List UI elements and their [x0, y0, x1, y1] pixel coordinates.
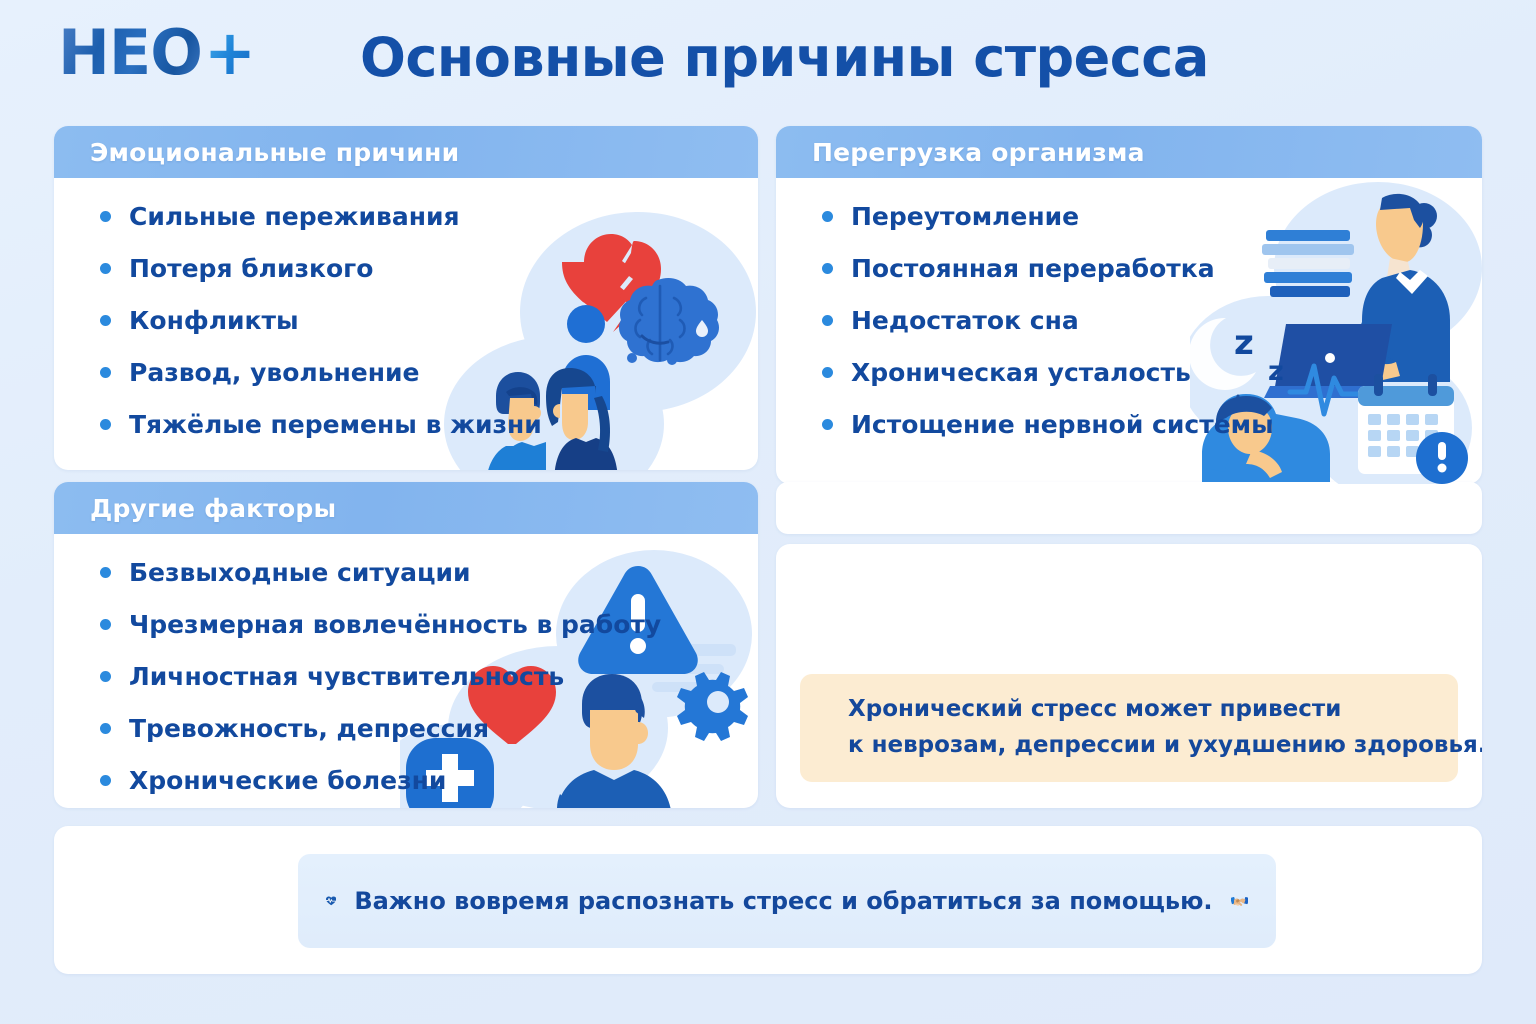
list-item: Развод, увольнение — [100, 358, 758, 387]
bullet-dot-icon — [100, 263, 111, 274]
bullet-dot-icon — [100, 419, 111, 430]
bullet-dot-icon — [100, 723, 111, 734]
list-item-label: Безвыходные ситуации — [129, 558, 471, 587]
card-overload-header: Перегрузка организма — [776, 126, 1482, 178]
list-item-label: Конфликты — [129, 306, 299, 335]
warning-message: Хронический стресс может привести к невр… — [848, 692, 1482, 763]
footer-bar: Важно вовремя распознать стресс и обрати… — [298, 854, 1276, 948]
list-item-label: Хронические болезни — [129, 766, 446, 795]
list-item-label: Хроническая усталость — [851, 358, 1191, 387]
brand-logo[interactable]: НЕО+ — [58, 22, 255, 84]
card-other-body: Безвыходные ситуации Чрезмерная вовлечён… — [54, 534, 758, 808]
brand-logo-text: НЕО — [58, 22, 202, 84]
list-item: Хронические болезни — [100, 766, 758, 795]
list-item: Истощение нервной системы — [822, 410, 1482, 439]
brand-logo-plus-icon: + — [204, 22, 255, 84]
list-item-label: Тяжёлые перемены в жизни — [129, 410, 542, 439]
warning-line-2: к неврозам, депрессии и ухудшению здоров… — [848, 728, 1482, 764]
list-item: Потеря близкого — [100, 254, 758, 283]
bullet-dot-icon — [100, 367, 111, 378]
bullet-dot-icon — [822, 419, 833, 430]
page-title: Основные причины стресса — [360, 26, 1209, 89]
other-factors-list: Безвыходные ситуации Чрезмерная вовлечён… — [100, 558, 758, 795]
list-item-label: Постоянная переработка — [851, 254, 1215, 283]
bullet-dot-icon — [100, 619, 111, 630]
bullet-dot-icon — [822, 315, 833, 326]
bullet-dot-icon — [822, 211, 833, 222]
list-item: Конфликты — [100, 306, 758, 335]
list-item: Тревожность, депрессия — [100, 714, 758, 743]
bullet-dot-icon — [100, 211, 111, 222]
bullet-dot-icon — [100, 315, 111, 326]
list-item-label: Чрезмерная вовлечённость в работу — [129, 610, 661, 639]
bullet-dot-icon — [822, 263, 833, 274]
warning-line-1: Хронический стресс может привести — [848, 692, 1482, 728]
card-emotional-body: Сильные переживания Потеря близкого Конф… — [54, 178, 758, 470]
card-other-factors: Другие факторы Безвыходные ситуации Чрез… — [54, 482, 758, 808]
card-chronic-stress-warning: Хронический стресс может привести к невр… — [776, 544, 1482, 808]
bullet-dot-icon — [100, 775, 111, 786]
list-item-label: Потеря близкого — [129, 254, 373, 283]
bullet-dot-icon — [100, 671, 111, 682]
bullet-dot-icon — [822, 367, 833, 378]
list-item: Тяжёлые перемены в жизни — [100, 410, 758, 439]
list-item-label: Развод, увольнение — [129, 358, 420, 387]
list-item: Недостаток сна — [822, 306, 1482, 335]
card-overload-title: Перегрузка организма — [812, 138, 1145, 167]
list-item: Чрезмерная вовлечённость в работу — [100, 610, 758, 639]
list-item: Безвыходные ситуации — [100, 558, 758, 587]
card-footer-message: Важно вовремя распознать стресс и обрати… — [54, 826, 1482, 974]
list-item: Постоянная переработка — [822, 254, 1482, 283]
list-item: Хроническая усталость — [822, 358, 1482, 387]
card-spacer-panel — [776, 482, 1482, 534]
list-item-label: Личностная чувствительность — [129, 662, 564, 691]
list-item: Переутомление — [822, 202, 1482, 231]
card-emotional-title: Эмоциональные причини — [90, 138, 459, 167]
card-other-title: Другие факторы — [90, 494, 336, 523]
list-item-label: Тревожность, депрессия — [129, 714, 489, 743]
card-emotional-causes: Эмоциональные причини Сильные переживани… — [54, 126, 758, 470]
list-item-label: Недостаток сна — [851, 306, 1079, 335]
card-emotional-header: Эмоциональные причини — [54, 126, 758, 178]
list-item: Личностная чувствительность — [100, 662, 758, 691]
list-item-label: Сильные переживания — [129, 202, 460, 231]
card-other-header: Другие факторы — [54, 482, 758, 534]
bullet-dot-icon — [100, 567, 111, 578]
list-item-label: Переутомление — [851, 202, 1079, 231]
list-item-label: Истощение нервной системы — [851, 410, 1274, 439]
footer-message-text: Важно вовремя распознать стресс и обрати… — [354, 887, 1212, 915]
list-item: Сильные переживания — [100, 202, 758, 231]
handshake-icon — [1231, 860, 1248, 942]
warning-callout: Хронический стресс может привести к невр… — [800, 674, 1458, 782]
page-header: НЕО+ Основные причины стресса — [0, 0, 1536, 118]
card-body-overload: Перегрузка организма Переутомление Посто… — [776, 126, 1482, 484]
overload-causes-list: Переутомление Постоянная переработка Нед… — [822, 202, 1482, 439]
emotional-causes-list: Сильные переживания Потеря близкого Конф… — [100, 202, 758, 439]
heart-pulse-icon — [326, 868, 336, 934]
card-overload-body: Переутомление Постоянная переработка Нед… — [776, 178, 1482, 484]
